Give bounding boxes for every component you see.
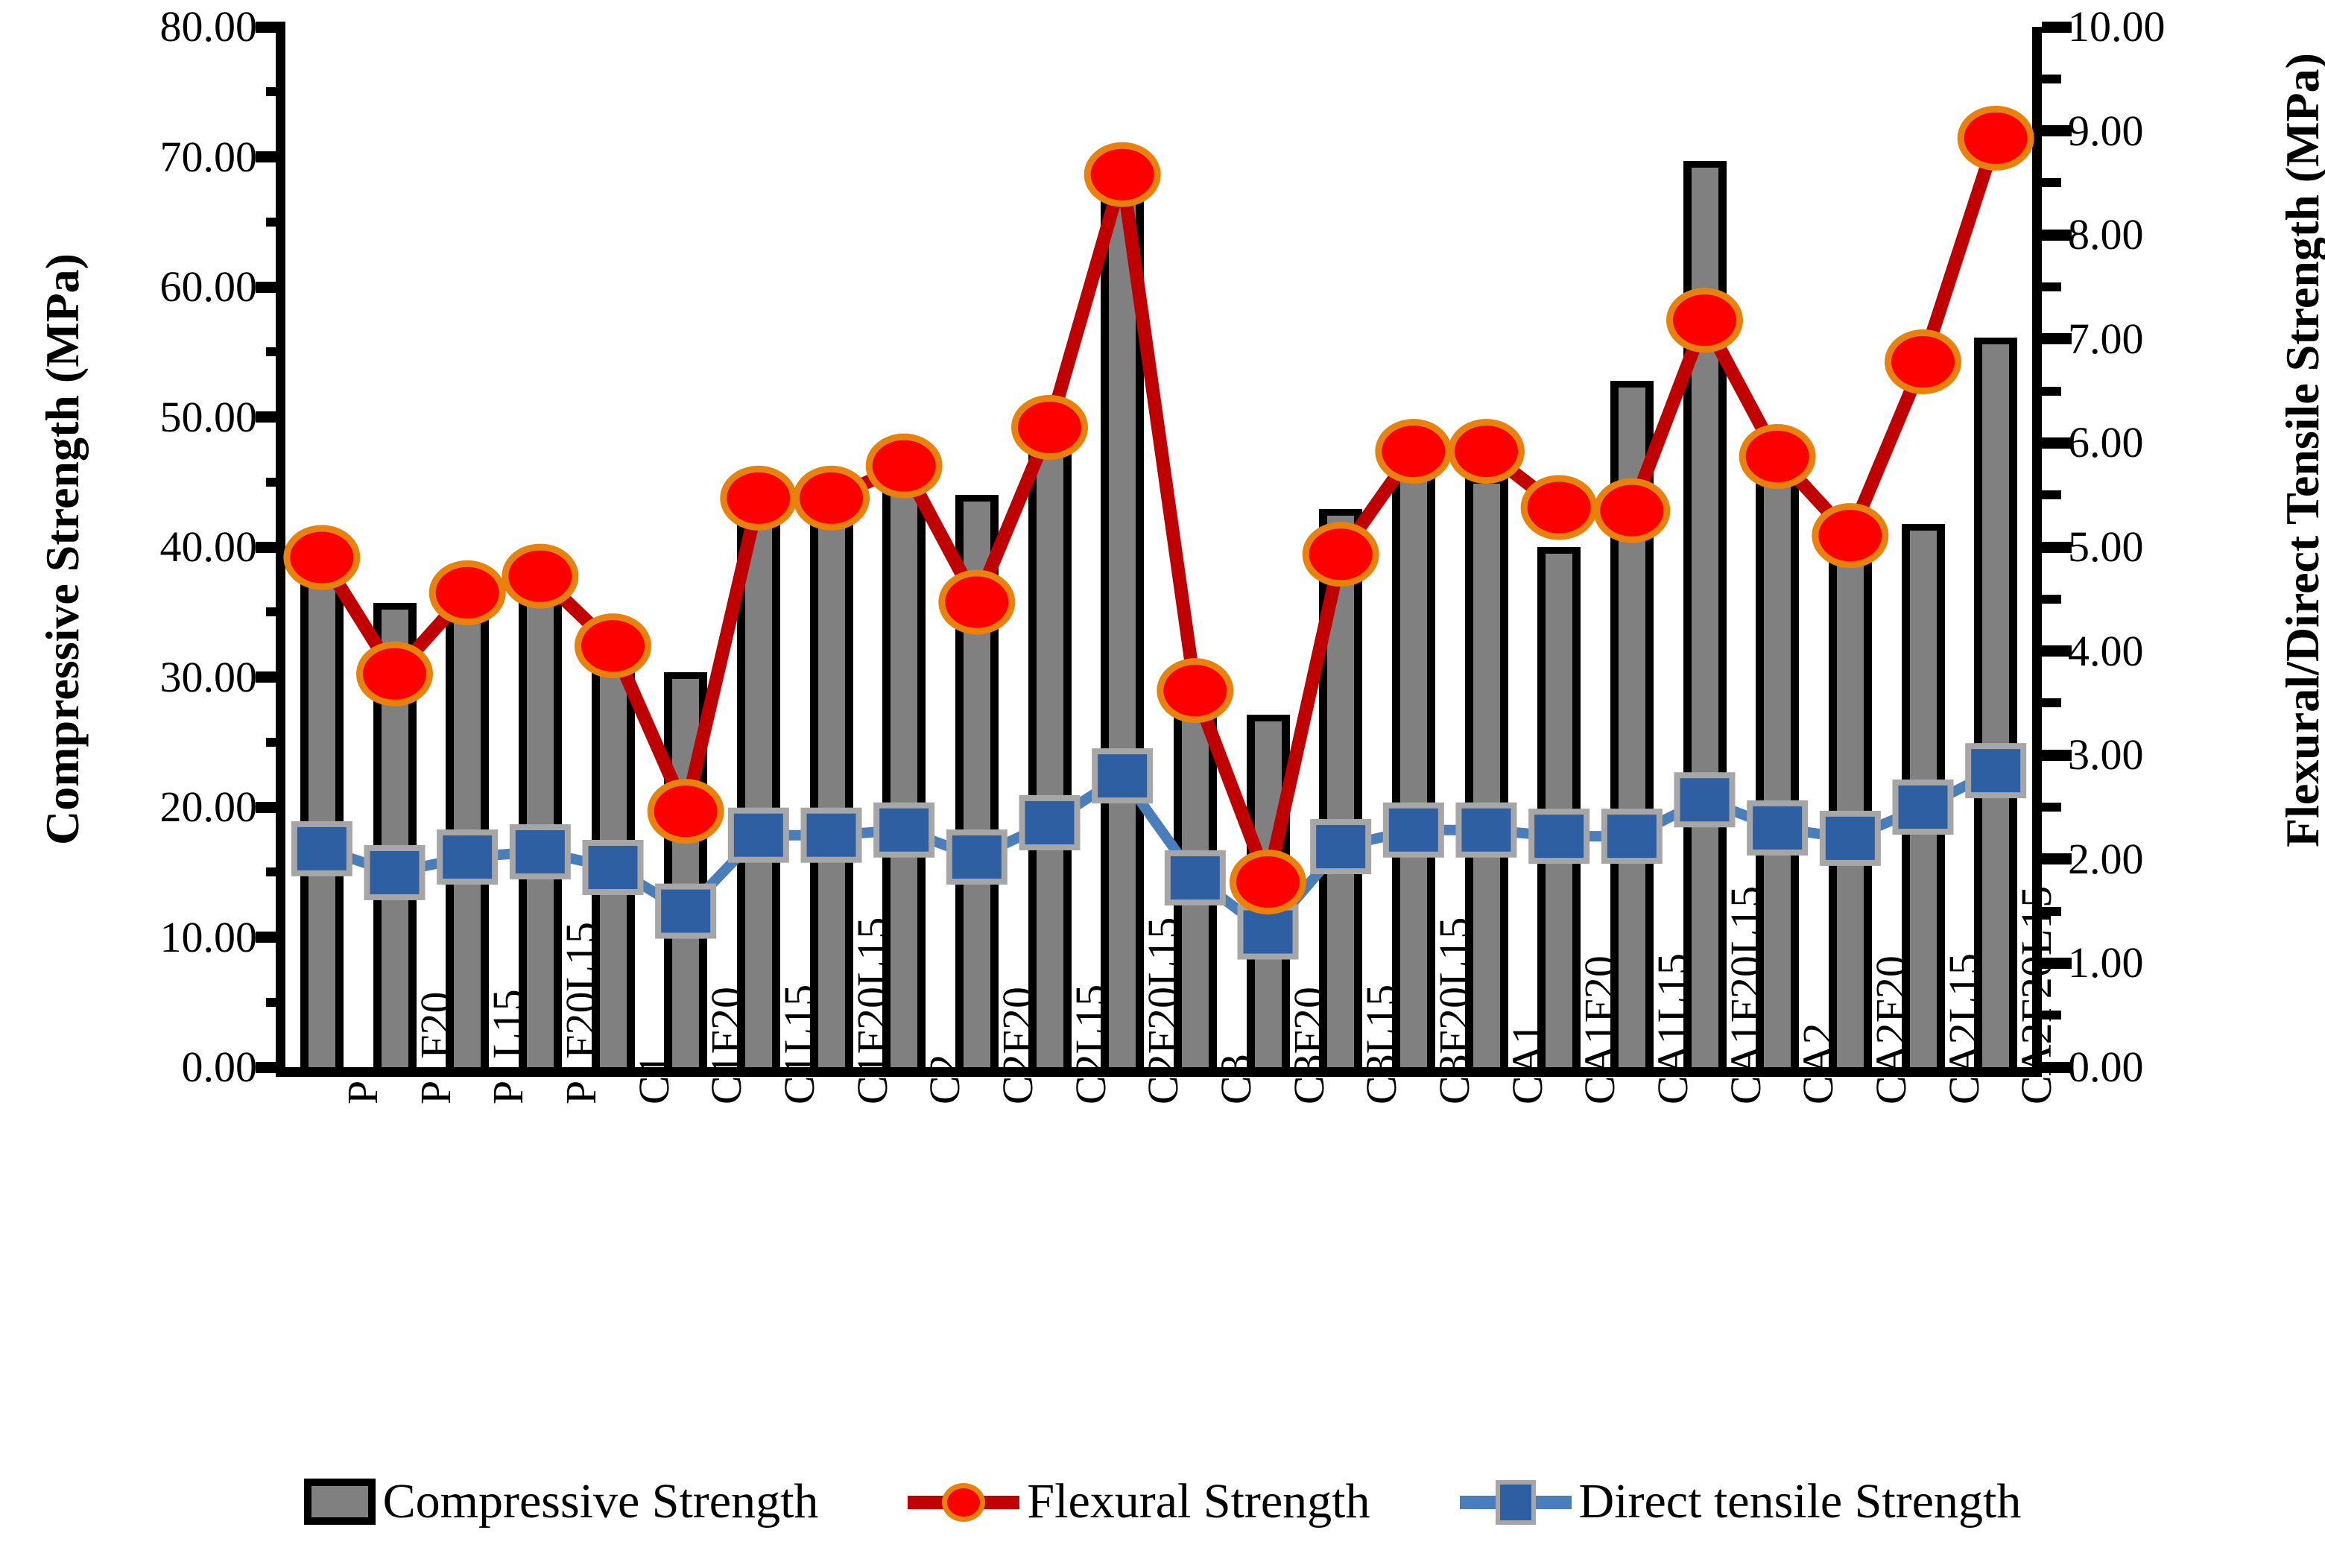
right-axis-tick (2042, 542, 2072, 553)
left-axis-tick (256, 542, 285, 553)
right-tick-label: 3.00 (2068, 733, 2291, 777)
right-tick-label: 0.00 (2068, 1046, 2291, 1089)
x-category-C1F20L15: C1F20L15 (847, 917, 897, 1104)
x-category-C2L15: C2L15 (1066, 984, 1116, 1104)
flexural-marker-CA2F20L15 (1961, 109, 2031, 167)
right-axis-tick (2042, 595, 2061, 604)
x-category-CA1L15: CA1L15 (1648, 953, 1698, 1104)
chart-root: Compressive Strength (MPa) Flexural/Dire… (0, 0, 2325, 1568)
left-axis-tick (256, 802, 285, 813)
left-tick-label: 20.00 (0, 785, 257, 829)
x-category-CA2F20L15: CA2F20L15 (2011, 886, 2061, 1104)
left-axis-tick (266, 87, 285, 96)
bar-C3F20 (1247, 715, 1290, 1067)
right-axis-tick (2042, 22, 2072, 33)
left-tick-label: 0.00 (0, 1046, 257, 1089)
x-category-CA1: CA1 (1502, 1022, 1552, 1104)
left-axis-tick (266, 218, 285, 227)
right-axis-tick (2042, 490, 2061, 499)
right-axis-tick (2042, 853, 2072, 864)
x-category-P1F20L15: P1F20L15 (556, 922, 606, 1104)
bar-C1F20L15 (810, 505, 853, 1067)
flexural-marker-C1 (578, 617, 648, 675)
right-tick-label: 2.00 (2068, 838, 2291, 881)
left-axis-tick (266, 867, 285, 876)
square-marker-icon (1496, 1480, 1536, 1525)
circle-marker-icon (942, 1483, 985, 1522)
right-axis-tick (2042, 333, 2072, 344)
right-axis-tick (2042, 750, 2072, 761)
right-axis-tick (2042, 698, 2061, 707)
right-axis-tick (2042, 230, 2072, 241)
legend-label: Flexural Strength (1027, 1473, 1370, 1530)
x-category-C3F20: C3F20 (1284, 987, 1334, 1104)
right-tick-label: 4.00 (2068, 630, 2291, 673)
right-axis-tick (2042, 645, 2072, 657)
right-axis-tick (2042, 178, 2061, 187)
legend-label: Direct tensile Strength (1579, 1473, 2022, 1530)
line-swatch-icon (1460, 1479, 1572, 1525)
bar-C3L15 (1319, 509, 1362, 1067)
left-tick-label: 70.00 (0, 136, 257, 179)
flexural-marker-CA1 (1452, 423, 1522, 481)
legend-item-0[interactable]: Compressive Strength (304, 1473, 819, 1530)
left-tick-label: 50.00 (0, 396, 257, 439)
right-axis-tick (2042, 803, 2061, 812)
x-category-C2F20L15: C2F20L15 (1138, 917, 1188, 1104)
right-tick-label: 1.00 (2068, 941, 2291, 984)
x-category-C3L15: C3L15 (1356, 984, 1406, 1104)
left-axis-tick (256, 151, 285, 162)
right-tick-label: 5.00 (2068, 525, 2291, 569)
bar-P1 (300, 570, 344, 1067)
left-axis-tick (256, 1062, 285, 1073)
right-axis-tick (2042, 387, 2061, 396)
x-category-CA2: CA2 (1793, 1022, 1843, 1104)
right-tick-label: 8.00 (2068, 213, 2291, 256)
bar-swatch-icon (304, 1479, 376, 1525)
legend-item-2[interactable]: Direct tensile Strength (1460, 1473, 2022, 1530)
left-axis-tick (266, 607, 285, 616)
left-tick-label: 10.00 (0, 916, 257, 959)
left-tick-label: 40.00 (0, 525, 257, 569)
x-category-C1L15: C1L15 (774, 984, 824, 1104)
x-category-C2: C2 (920, 1054, 969, 1104)
chart-legend: Compressive StrengthFlexural StrengthDir… (0, 1457, 2325, 1546)
left-tick-label: 60.00 (0, 265, 257, 309)
bar-C2L15 (1028, 449, 1072, 1067)
x-category-C1F20: C1F20 (701, 987, 751, 1104)
left-axis-tick (266, 347, 285, 356)
bar-P1F20 (373, 603, 417, 1067)
flexural-marker-C2L15 (1015, 398, 1085, 456)
x-category-P1: P1 (338, 1059, 387, 1104)
x-category-C3F20L15: C3F20L15 (1429, 917, 1479, 1104)
left-tick-label: 80.00 (0, 5, 257, 48)
x-category-CA1F20L15: CA1F20L15 (1721, 886, 1771, 1104)
x-category-C2F20: C2F20 (993, 987, 1043, 1104)
legend-item-1[interactable]: Flexural Strength (908, 1473, 1370, 1530)
bar-CA1F20L15 (1683, 161, 1727, 1067)
left-axis-tick (256, 932, 285, 943)
x-category-P1F20: P1F20 (411, 991, 461, 1104)
right-tick-label: 7.00 (2068, 317, 2291, 361)
right-tick-label: 6.00 (2068, 421, 2291, 464)
x-category-CA1F20: CA1F20 (1575, 955, 1625, 1104)
flexural-marker-CA2L15 (1888, 333, 1958, 391)
line-swatch-icon (908, 1479, 1019, 1525)
left-axis-tick (256, 671, 285, 683)
bar-C2F20 (955, 495, 999, 1067)
x-category-CA2L15: CA2L15 (1939, 953, 1989, 1104)
right-axis-tick (2042, 282, 2061, 291)
left-axis-tick (256, 411, 285, 423)
left-tick-label: 30.00 (0, 656, 257, 699)
x-category-P1L15: P1L15 (483, 989, 533, 1104)
flexural-marker-C3F20L15 (1379, 423, 1449, 481)
left-axis-tick (256, 282, 285, 293)
left-axis-tick (266, 478, 285, 487)
x-category-C3: C3 (1211, 1054, 1261, 1104)
x-category-C1: C1 (629, 1054, 679, 1104)
right-tick-label: 10.00 (2068, 5, 2291, 48)
legend-label: Compressive Strength (383, 1473, 819, 1530)
right-tick-label: 9.00 (2068, 110, 2291, 153)
left-axis-tick (266, 998, 285, 1007)
x-category-CA2F20: CA2F20 (1866, 955, 1916, 1104)
right-axis-tick (2042, 437, 2072, 449)
flexural-marker-CA1F20 (1524, 478, 1594, 537)
left-axis-tick (256, 22, 285, 33)
right-axis-tick (2042, 75, 2061, 83)
right-axis-tick (2042, 125, 2072, 136)
left-axis-tick (266, 738, 285, 747)
